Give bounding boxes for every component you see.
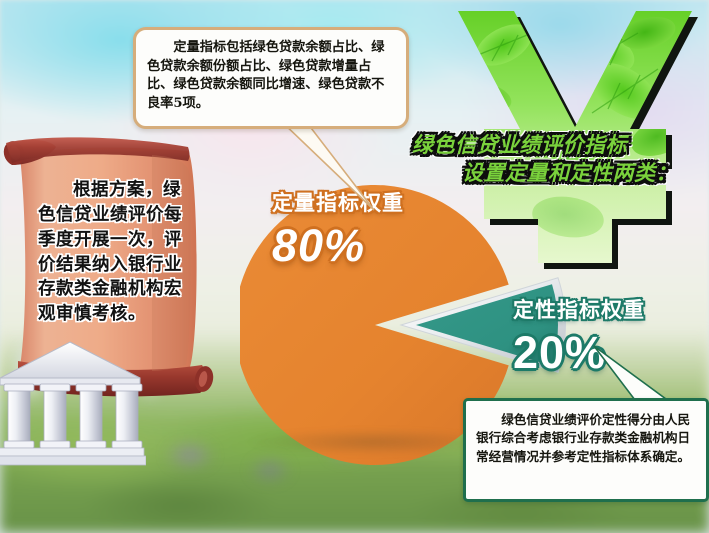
page-title-line1: 绿色信贷业绩评价指标 bbox=[404, 132, 709, 160]
pie-drop-shadow bbox=[248, 429, 498, 455]
pie-label-quantitative-value: 80% bbox=[272, 223, 404, 268]
pie-label-qualitative-title: 定性指标权重 bbox=[513, 300, 645, 321]
page-title: 绿色信贷业绩评价指标 设置定量和定性两类： bbox=[404, 132, 709, 189]
callout-quantitative-indicators: 定量指标包括绿色贷款余额占比、绿色贷款余额份额占比、绿色贷款增量占比、绿色贷款余… bbox=[133, 27, 409, 129]
callout-qualitative-scoring: 绿色信贷业绩评价定性得分由人民银行综合考虑银行业存款类金融机构日常经营情况并参考… bbox=[463, 398, 709, 502]
page-title-line2: 设置定量和定性两类： bbox=[404, 160, 709, 188]
infographic-canvas: 定量指标权重 80% 定性指标权重 20% 绿色信贷业绩评价指标 设置定量和定性… bbox=[0, 0, 709, 533]
callout-quantitative-text: 定量指标包括绿色贷款余额占比、绿色贷款余额份额占比、绿色贷款增量占比、绿色贷款余… bbox=[136, 30, 406, 114]
scroll-text: 根据方案，绿色信贷业绩评价每季度开展一次，评价结果纳入银行业存款类金融机构宏观审… bbox=[38, 177, 194, 326]
callout-top-pointer bbox=[278, 118, 398, 218]
callout-qualitative-text: 绿色信贷业绩评价定性得分由人民银行综合考虑银行业存款类金融机构日常经营情况并参考… bbox=[466, 401, 706, 466]
bank-building-icon bbox=[0, 338, 146, 468]
